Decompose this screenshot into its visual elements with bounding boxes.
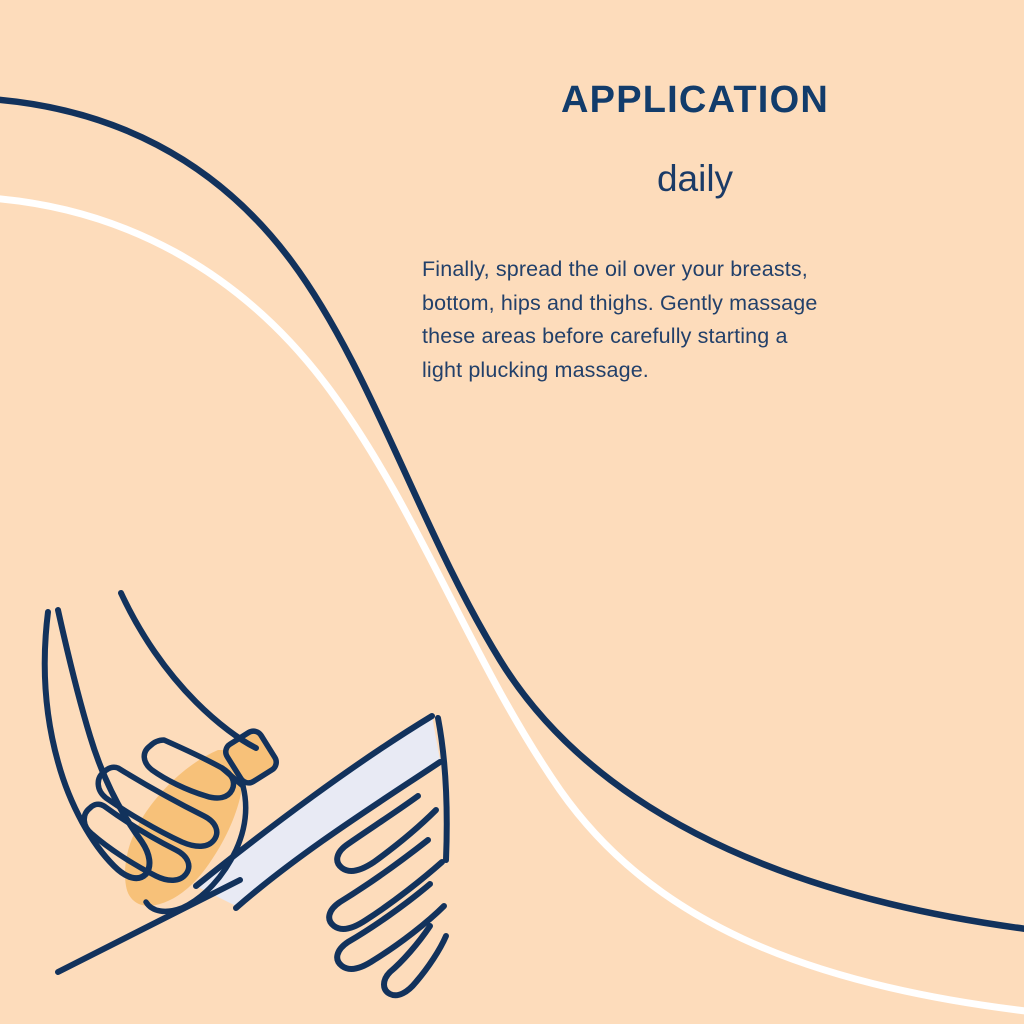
page-subtitle: daily [422,156,968,202]
body-line: these areas before carefully starting a [422,320,988,354]
body-line: Finally, spread the oil over your breast… [422,253,988,287]
poster-canvas: APPLICATION daily Finally, spread the oi… [0,0,1024,1024]
page-title: APPLICATION [422,78,968,122]
body-paragraph: Finally, spread the oil over your breast… [422,253,988,387]
body-line: light plucking massage. [422,354,988,388]
illustration-artwork [0,0,1024,1024]
body-line: bottom, hips and thighs. Gently massage [422,287,988,321]
